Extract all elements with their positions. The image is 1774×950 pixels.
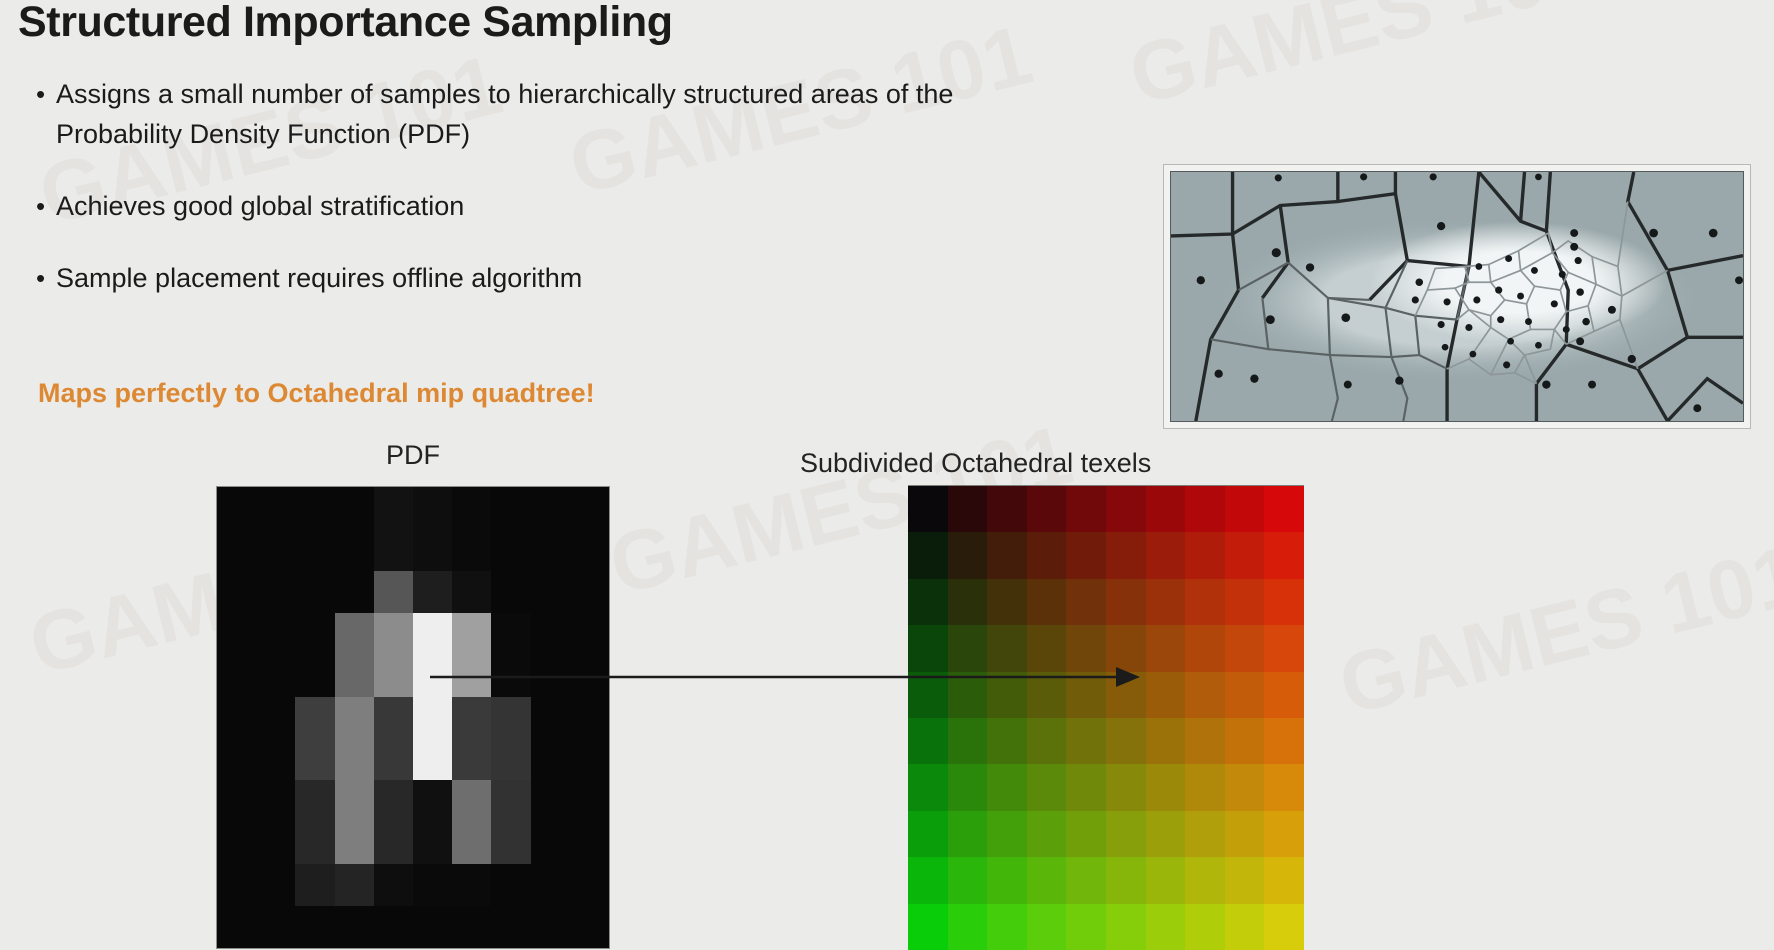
octahedral-texel — [1106, 764, 1146, 810]
pdf-image — [216, 486, 610, 949]
pdf-texel — [452, 529, 491, 571]
octahedral-texel — [908, 579, 948, 625]
pdf-texel — [295, 864, 334, 906]
octahedral-texel — [948, 718, 988, 764]
voronoi-canvas — [1170, 171, 1744, 422]
octahedral-texel — [987, 579, 1027, 625]
octahedral-texel — [1027, 857, 1067, 903]
highlight-callout: Maps perfectly to Octahedral mip quadtre… — [38, 378, 595, 409]
octahedral-texel — [1185, 764, 1225, 810]
pdf-texel — [531, 655, 570, 697]
pdf-texel — [335, 822, 374, 864]
octahedral-texel — [908, 857, 948, 903]
pdf-texel — [295, 571, 334, 613]
bullet-list: • Assigns a small number of samples to h… — [32, 74, 1022, 330]
pdf-texel — [256, 738, 295, 780]
octahedral-texel — [1146, 904, 1186, 950]
pdf-texel — [452, 906, 491, 948]
pdf-texel — [374, 697, 413, 739]
octahedral-texel — [1264, 764, 1304, 810]
pdf-texel — [295, 906, 334, 948]
octahedral-texel — [1264, 718, 1304, 764]
pdf-texel — [217, 738, 256, 780]
watermark-text: GAMES 101 — [1120, 0, 1601, 124]
pdf-texel — [413, 655, 452, 697]
octahedral-texel — [1264, 904, 1304, 950]
pdf-texel — [531, 864, 570, 906]
pdf-texel — [570, 738, 609, 780]
pdf-texel — [217, 697, 256, 739]
pdf-texel — [413, 822, 452, 864]
octahedral-texel — [908, 718, 948, 764]
pdf-texel — [217, 655, 256, 697]
pdf-texel — [374, 906, 413, 948]
pdf-texel — [452, 864, 491, 906]
pdf-texel — [570, 487, 609, 529]
pdf-texel — [452, 571, 491, 613]
pdf-texel — [295, 613, 334, 655]
octahedral-texel — [1225, 811, 1265, 857]
pdf-texel — [335, 738, 374, 780]
octahedral-texel — [1225, 532, 1265, 578]
pdf-texel — [570, 571, 609, 613]
octahedral-texel — [987, 857, 1027, 903]
octahedral-texel — [1106, 672, 1146, 718]
pdf-texel — [531, 529, 570, 571]
octahedral-texel — [1185, 532, 1225, 578]
pdf-caption: PDF — [216, 440, 610, 471]
bullet-marker-icon: • — [32, 186, 56, 226]
octahedral-texel — [1027, 672, 1067, 718]
pdf-texel — [452, 822, 491, 864]
pdf-texel — [256, 697, 295, 739]
pdf-texel — [413, 487, 452, 529]
pdf-texel — [531, 780, 570, 822]
pdf-texel — [295, 697, 334, 739]
pdf-texel — [452, 780, 491, 822]
pdf-texel — [374, 529, 413, 571]
bullet-text: Assigns a small number of samples to hie… — [56, 74, 1022, 154]
subdivided-octahedral-texels-image — [908, 485, 1304, 950]
octahedral-texel — [987, 904, 1027, 950]
pdf-texel — [374, 571, 413, 613]
pdf-texel — [217, 780, 256, 822]
pdf-texel — [491, 529, 530, 571]
pdf-texel — [413, 613, 452, 655]
octahedral-texel — [1146, 625, 1186, 671]
pdf-texel — [570, 780, 609, 822]
pdf-texel — [491, 571, 530, 613]
octahedral-texel — [948, 764, 988, 810]
pdf-texel — [217, 529, 256, 571]
pdf-texel — [256, 487, 295, 529]
pdf-texel — [570, 906, 609, 948]
octahedral-texel — [1185, 672, 1225, 718]
pdf-texel — [374, 613, 413, 655]
octahedral-texel — [1264, 532, 1304, 578]
octahedral-texel — [1225, 486, 1265, 532]
pdf-texel — [413, 738, 452, 780]
page-title: Structured Importance Sampling — [18, 0, 673, 47]
voronoi-sampling-diagram — [1163, 164, 1751, 429]
octahedral-texel — [1066, 764, 1106, 810]
octahedral-texel — [1106, 904, 1146, 950]
octahedral-texel — [908, 486, 948, 532]
pdf-texel — [413, 780, 452, 822]
pdf-texel — [491, 780, 530, 822]
octahedral-texel — [908, 904, 948, 950]
pdf-texel — [374, 738, 413, 780]
pdf-texel — [256, 822, 295, 864]
pdf-texel — [531, 487, 570, 529]
pdf-texel — [491, 738, 530, 780]
pdf-texel — [295, 487, 334, 529]
octahedral-texel — [1185, 718, 1225, 764]
octahedral-texel — [1264, 811, 1304, 857]
octahedral-texel — [1027, 532, 1067, 578]
octahedral-texel — [987, 672, 1027, 718]
pdf-texel — [570, 613, 609, 655]
pdf-texel — [295, 822, 334, 864]
pdf-texel — [531, 738, 570, 780]
pdf-texel — [217, 613, 256, 655]
octahedral-texel — [1027, 486, 1067, 532]
pdf-texel — [491, 822, 530, 864]
pdf-texel — [531, 906, 570, 948]
pdf-texel — [413, 697, 452, 739]
octahedral-texel — [987, 532, 1027, 578]
octahedral-texel — [1066, 486, 1106, 532]
octahedral-texel — [1146, 579, 1186, 625]
octahedral-texel — [1027, 718, 1067, 764]
voronoi-svg — [1171, 172, 1743, 421]
octahedral-texel — [1185, 857, 1225, 903]
octahedral-texel — [1264, 625, 1304, 671]
pdf-texel — [256, 780, 295, 822]
pdf-texel — [452, 655, 491, 697]
pdf-texel — [570, 655, 609, 697]
pdf-texel — [335, 571, 374, 613]
octahedral-texel — [1027, 811, 1067, 857]
pdf-texel — [335, 487, 374, 529]
octahedral-texel — [987, 764, 1027, 810]
pdf-texel — [256, 571, 295, 613]
pdf-texel — [531, 822, 570, 864]
octahedral-texel — [948, 625, 988, 671]
octahedral-texel — [1146, 764, 1186, 810]
pdf-texel — [256, 529, 295, 571]
octahedral-texel — [987, 811, 1027, 857]
octahedral-texel — [908, 811, 948, 857]
octahedral-texel — [948, 486, 988, 532]
pdf-texel — [256, 655, 295, 697]
octahedral-texel — [948, 532, 988, 578]
octahedral-texel — [1027, 904, 1067, 950]
octahedral-texel — [1106, 857, 1146, 903]
octahedral-texel — [908, 532, 948, 578]
bullet-text: Achieves good global stratification — [56, 186, 464, 226]
pdf-texel — [217, 822, 256, 864]
octahedral-texel — [1264, 579, 1304, 625]
octahedral-texel — [1225, 857, 1265, 903]
pdf-texel — [491, 655, 530, 697]
octahedral-texel — [987, 486, 1027, 532]
octahedral-texel — [1146, 672, 1186, 718]
pdf-texel — [413, 906, 452, 948]
octahedral-texel — [987, 718, 1027, 764]
octahedral-texel — [908, 625, 948, 671]
pdf-texel — [374, 487, 413, 529]
octahedral-texel — [1066, 811, 1106, 857]
octahedral-texel — [1066, 672, 1106, 718]
pdf-texel — [374, 822, 413, 864]
pdf-texel — [570, 822, 609, 864]
octahedral-texel — [1066, 904, 1106, 950]
octahedral-texel — [1066, 857, 1106, 903]
octahedral-texel — [908, 764, 948, 810]
octahedral-texel — [1185, 579, 1225, 625]
pdf-texel — [335, 655, 374, 697]
octahedral-texel — [1066, 625, 1106, 671]
pdf-texel — [452, 738, 491, 780]
octahedral-texel — [1146, 857, 1186, 903]
pdf-texel — [335, 529, 374, 571]
list-item: • Sample placement requires offline algo… — [32, 258, 1022, 298]
octahedral-texel — [948, 904, 988, 950]
octahedral-texel — [987, 625, 1027, 671]
octahedral-texel — [1225, 904, 1265, 950]
octahedral-texel — [948, 579, 988, 625]
octahedral-texel — [1225, 625, 1265, 671]
bullet-text: Sample placement requires offline algori… — [56, 258, 582, 298]
pdf-texel — [452, 697, 491, 739]
octahedral-texel — [1185, 486, 1225, 532]
octahedral-texel — [948, 811, 988, 857]
octahedral-texel — [1066, 718, 1106, 764]
octahedral-texel — [1185, 811, 1225, 857]
pdf-texel — [570, 697, 609, 739]
octahedral-texel — [1066, 532, 1106, 578]
pdf-texel — [413, 864, 452, 906]
list-item: • Achieves good global stratification — [32, 186, 1022, 226]
octahedral-texel — [1106, 625, 1146, 671]
pdf-texel — [452, 613, 491, 655]
texel-caption: Subdivided Octahedral texels — [800, 448, 1350, 479]
pdf-texel — [256, 613, 295, 655]
pdf-texel — [295, 780, 334, 822]
pdf-texel — [531, 571, 570, 613]
pdf-texel — [335, 906, 374, 948]
bullet-marker-icon: • — [32, 258, 56, 298]
pdf-texel — [295, 655, 334, 697]
pdf-texel — [295, 738, 334, 780]
octahedral-texel — [1146, 718, 1186, 764]
pdf-texel — [256, 864, 295, 906]
octahedral-texel — [948, 672, 988, 718]
pdf-texel — [217, 487, 256, 529]
octahedral-texel — [1106, 811, 1146, 857]
pdf-texel — [374, 655, 413, 697]
octahedral-texel — [1106, 532, 1146, 578]
pdf-texel — [374, 864, 413, 906]
pdf-texel — [491, 697, 530, 739]
octahedral-texel — [1146, 811, 1186, 857]
pdf-texel — [491, 487, 530, 529]
octahedral-texel — [1225, 718, 1265, 764]
octahedral-texel — [1106, 486, 1146, 532]
pdf-texel — [413, 571, 452, 613]
octahedral-texel — [1066, 579, 1106, 625]
octahedral-texel — [1146, 532, 1186, 578]
octahedral-texel — [1027, 579, 1067, 625]
pdf-texel — [217, 864, 256, 906]
pdf-texel — [335, 613, 374, 655]
pdf-texel — [413, 529, 452, 571]
bullet-marker-icon: • — [32, 74, 56, 114]
list-item: • Assigns a small number of samples to h… — [32, 74, 1022, 154]
pdf-texel — [295, 529, 334, 571]
octahedral-texel — [1146, 486, 1186, 532]
pdf-texel — [531, 613, 570, 655]
pdf-texel — [531, 697, 570, 739]
pdf-texel — [491, 906, 530, 948]
pdf-texel — [374, 780, 413, 822]
pdf-texel — [335, 697, 374, 739]
pdf-texel — [335, 864, 374, 906]
pdf-texel — [491, 864, 530, 906]
octahedral-texel — [1106, 718, 1146, 764]
pdf-texel — [256, 906, 295, 948]
octahedral-texel — [1225, 579, 1265, 625]
octahedral-texel — [1264, 672, 1304, 718]
octahedral-texel — [1264, 857, 1304, 903]
pdf-texel — [452, 487, 491, 529]
octahedral-texel — [1225, 764, 1265, 810]
octahedral-texel — [1185, 904, 1225, 950]
pdf-texel — [491, 613, 530, 655]
octahedral-texel — [908, 672, 948, 718]
octahedral-texel — [1106, 579, 1146, 625]
octahedral-texel — [1225, 672, 1265, 718]
watermark-text: GAMES 101 — [1330, 526, 1774, 734]
octahedral-texel — [948, 857, 988, 903]
octahedral-texel — [1264, 486, 1304, 532]
octahedral-texel — [1027, 625, 1067, 671]
pdf-texel — [217, 906, 256, 948]
octahedral-texel — [1185, 625, 1225, 671]
pdf-texel — [217, 571, 256, 613]
pdf-texel — [570, 864, 609, 906]
octahedral-texel — [1027, 764, 1067, 810]
pdf-texel — [335, 780, 374, 822]
pdf-texel — [570, 529, 609, 571]
